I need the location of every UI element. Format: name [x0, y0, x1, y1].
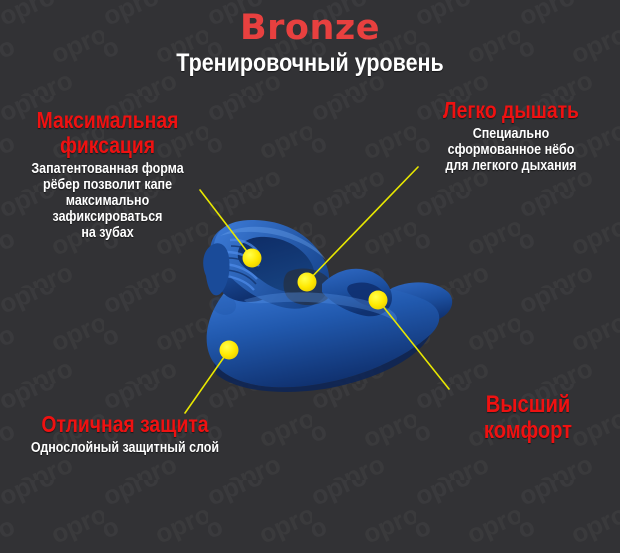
connector-line-comfort	[378, 300, 449, 389]
page-subtitle: Тренировочный уровень	[43, 49, 576, 77]
callout-fixation-body: Запатентованная форма рёбер позволит кап…	[15, 161, 200, 241]
callout-comfort: Высший комфорт	[443, 392, 613, 444]
connector-line-breath	[307, 167, 418, 282]
callout-protection-title: Отличная защита	[24, 412, 226, 437]
mouthguard-illustration	[203, 220, 452, 392]
marker-dot-comfort	[369, 291, 388, 310]
callout-comfort-title: Высший комфорт	[457, 392, 600, 444]
callout-fixation: Максимальная фиксация Запатентованная фо…	[0, 108, 215, 241]
page-title: Bronze	[0, 8, 620, 48]
marker-dot-protection	[220, 341, 239, 360]
connector-lines	[185, 167, 449, 413]
callout-breath: Легко дышать Специально сформованное нёб…	[405, 98, 617, 174]
connector-line-protection	[185, 350, 229, 413]
callout-breath-body: Специально сформованное нёбо для легкого…	[420, 126, 602, 174]
infographic-root: opro opro opro opro Bronze Тренировочный…	[0, 0, 620, 553]
header-block: Bronze Тренировочный уровень	[0, 8, 620, 77]
marker-dot-fixation	[243, 249, 262, 268]
marker-dot-breath	[298, 273, 317, 292]
callout-fixation-title: Максимальная фиксация	[17, 108, 198, 158]
callout-protection: Отличная защита Однослойный защитный сло…	[5, 412, 245, 456]
callout-protection-body: Однослойный защитный слой	[22, 440, 228, 456]
marker-dots	[220, 249, 388, 360]
product-artwork-layer	[0, 0, 620, 553]
background-watermark-pattern: opro opro opro opro	[0, 0, 620, 553]
callout-breath-title: Легко дышать	[422, 98, 600, 123]
